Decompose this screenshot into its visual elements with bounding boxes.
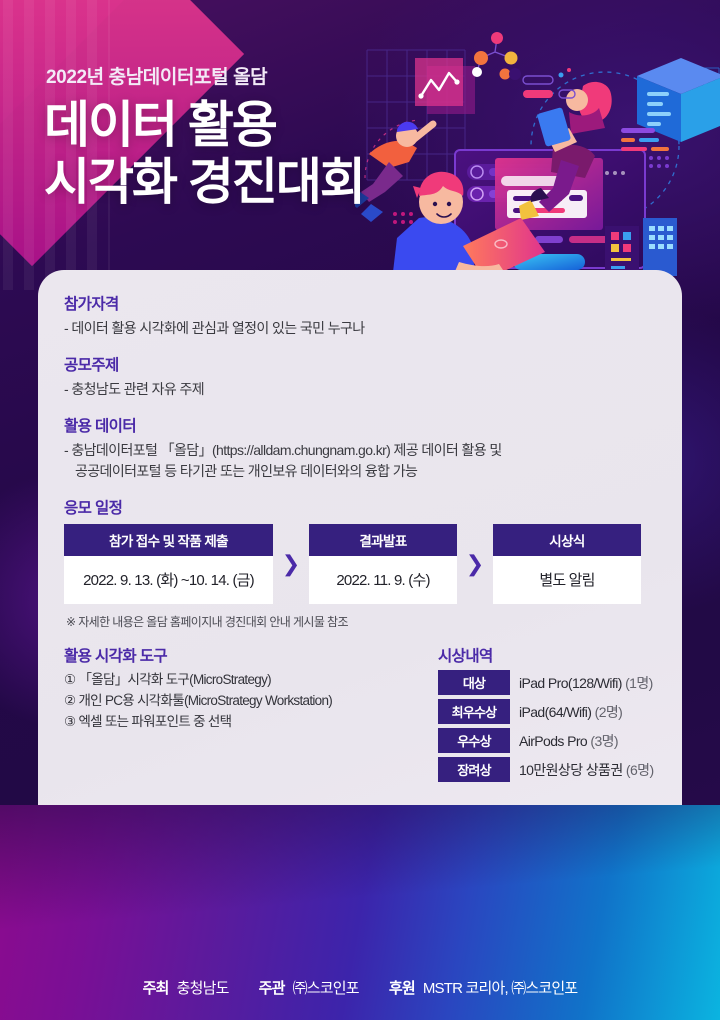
hero-title-line-2: 시각화 경진대회 xyxy=(44,154,464,211)
tools-and-prizes: 활용 시각화 도구 ① 「올담」시각화 도구(MicroStrategy) ② … xyxy=(64,644,656,786)
prize-item-3: AirPods Pro xyxy=(519,733,587,749)
schedule-step-1-label: 참가 접수 및 작품 제출 xyxy=(64,524,273,556)
poster-root: 2022년 충남데이터포털 올담 데이터 활용 시각화 경진대회 참가자격 - … xyxy=(0,0,720,1020)
prize-badge-1: 대상 xyxy=(438,670,510,695)
schedule-step-3-label: 시상식 xyxy=(493,524,641,556)
tools-item-2: ② 개인 PC용 시각화툴(MicroStrategy Workstation) xyxy=(64,691,436,712)
schedule-note: ※ 자세한 내용은 올담 홈페이지내 경진대회 안내 게시물 참조 xyxy=(66,613,656,630)
section-tools: 활용 시각화 도구 ① 「올담」시각화 도구(MicroStrategy) ② … xyxy=(64,644,436,786)
hero-title-line-1: 데이터 활용 xyxy=(44,97,464,154)
hero-headline: 2022년 충남데이터포털 올담 데이터 활용 시각화 경진대회 xyxy=(44,62,464,211)
prize-item-2: iPad(64/Wifi) xyxy=(519,704,591,720)
prize-text-1: iPad Pro(128/Wifi) (1명) xyxy=(519,673,653,693)
decor-molecule xyxy=(472,32,521,80)
section-prizes: 시상내역 대상 iPad Pro(128/Wifi) (1명) 최우수상 iPa… xyxy=(436,644,656,786)
prize-row: 우수상 AirPods Pro (3명) xyxy=(438,728,656,753)
footer-item-sponsor: 후원 MSTR 코리아, ㈜스코인포 xyxy=(389,977,578,998)
section-topic-heading: 공모주제 xyxy=(64,353,656,375)
section-topic-line: - 충청남도 관련 자유 주제 xyxy=(64,379,656,400)
footer-value-organizer: ㈜스코인포 xyxy=(293,977,359,998)
prize-badge-2: 최우수상 xyxy=(438,699,510,724)
schedule-step-1-value: 2022. 9. 13. (화) ~10. 14. (금) xyxy=(64,556,273,604)
prize-count-4: (6명) xyxy=(626,762,654,778)
footer-value-host: 충청남도 xyxy=(177,977,229,998)
prize-badge-3: 우수상 xyxy=(438,728,510,753)
prize-count-1: (1명) xyxy=(625,675,653,691)
schedule-step-2: 결과발표 2022. 11. 9. (수) xyxy=(309,524,457,604)
section-schedule-heading: 응모 일정 xyxy=(64,496,656,518)
prize-text-3: AirPods Pro (3명) xyxy=(519,731,618,751)
prize-item-4: 10만원상당 상품권 xyxy=(519,762,623,778)
footer-credits: 주최 충청남도 주관 ㈜스코인포 후원 MSTR 코리아, ㈜스코인포 xyxy=(0,954,720,1020)
footer-item-host: 주최 충청남도 xyxy=(143,977,229,998)
schedule-step-3: 시상식 별도 알림 xyxy=(493,524,641,604)
section-eligibility-heading: 참가자격 xyxy=(64,292,656,314)
chevron-right-icon-2: ❯ xyxy=(457,524,493,604)
footer-value-sponsor: MSTR 코리아, ㈜스코인포 xyxy=(423,977,578,998)
schedule-step-1: 참가 접수 및 작품 제출 2022. 9. 13. (화) ~10. 14. … xyxy=(64,524,273,604)
tools-item-3: ③ 엑셀 또는 파워포인트 중 선택 xyxy=(64,712,436,733)
prize-row: 최우수상 iPad(64/Wifi) (2명) xyxy=(438,699,656,724)
footer-key-organizer: 주관 xyxy=(259,977,285,998)
section-data-heading: 활용 데이터 xyxy=(64,414,656,436)
prize-text-2: iPad(64/Wifi) (2명) xyxy=(519,702,622,722)
schedule-step-2-label: 결과발표 xyxy=(309,524,457,556)
prize-row: 대상 iPad Pro(128/Wifi) (1명) xyxy=(438,670,656,695)
section-prizes-heading: 시상내역 xyxy=(438,644,656,666)
prize-item-1: iPad Pro(128/Wifi) xyxy=(519,675,622,691)
prize-count-2: (2명) xyxy=(595,704,623,720)
prize-count-3: (3명) xyxy=(590,733,618,749)
section-topic: 공모주제 - 충청남도 관련 자유 주제 xyxy=(64,353,656,400)
schedule-step-2-value: 2022. 11. 9. (수) xyxy=(309,556,457,604)
prize-row: 장려상 10만원상당 상품권 (6명) xyxy=(438,757,656,782)
section-data-line-2: 공공데이터포털 등 타기관 또는 개인보유 데이터와의 융합 가능 xyxy=(64,461,656,482)
chevron-right-icon-1: ❯ xyxy=(273,524,309,604)
section-data: 활용 데이터 - 충남데이터포털 「올담」(https://alldam.chu… xyxy=(64,414,656,482)
section-data-line-1: - 충남데이터포털 「올담」(https://alldam.chungnam.g… xyxy=(64,440,656,461)
section-eligibility: 참가자격 - 데이터 활용 시각화에 관심과 열정이 있는 국민 누구나 xyxy=(64,292,656,339)
schedule-timeline: 참가 접수 및 작품 제출 2022. 9. 13. (화) ~10. 14. … xyxy=(64,524,656,604)
footer-item-organizer: 주관 ㈜스코인포 xyxy=(259,977,359,998)
tools-item-1: ① 「올담」시각화 도구(MicroStrategy) xyxy=(64,670,436,691)
footer-key-sponsor: 후원 xyxy=(389,977,415,998)
hero-kicker: 2022년 충남데이터포털 올담 xyxy=(46,62,464,89)
prize-text-4: 10만원상당 상품권 (6명) xyxy=(519,760,654,780)
section-schedule: 응모 일정 참가 접수 및 작품 제출 2022. 9. 13. (화) ~10… xyxy=(64,496,656,630)
prize-badge-4: 장려상 xyxy=(438,757,510,782)
section-tools-heading: 활용 시각화 도구 xyxy=(64,644,436,666)
section-eligibility-line: - 데이터 활용 시각화에 관심과 열정이 있는 국민 누구나 xyxy=(64,318,656,339)
footer-key-host: 주최 xyxy=(143,977,169,998)
schedule-step-3-value: 별도 알림 xyxy=(493,556,641,604)
